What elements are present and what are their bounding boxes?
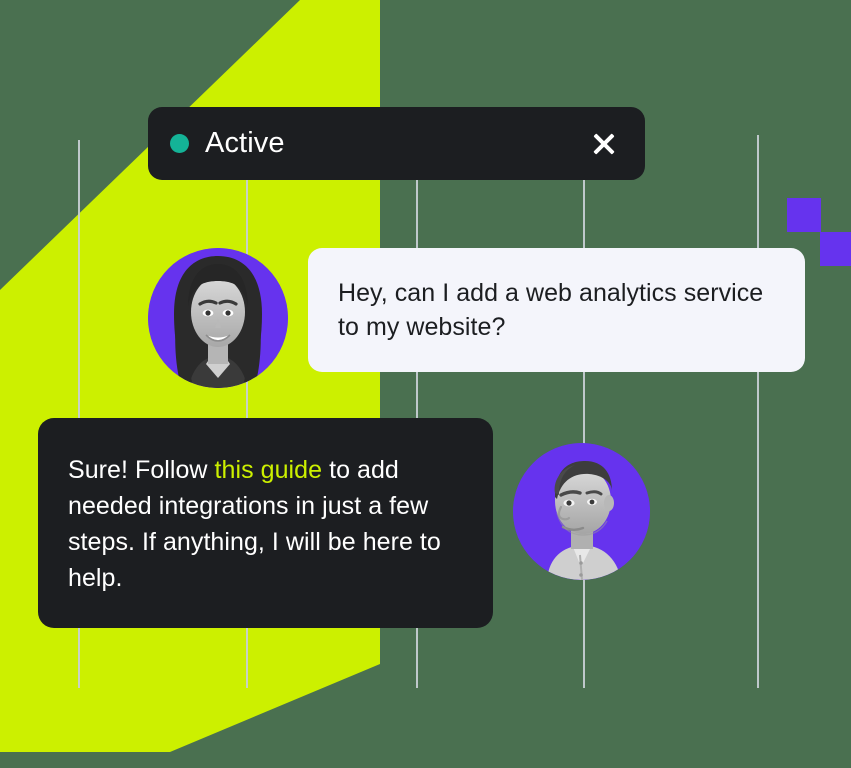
message-text-agent: Sure! Follow this guide to add needed in… [68, 452, 463, 596]
agent-text-before-link: Sure! Follow [68, 456, 215, 484]
status-header-bar: Active [148, 107, 645, 180]
purple-square-upper [787, 198, 821, 232]
status-dot-icon [170, 134, 189, 153]
avatar-agent-man [513, 443, 650, 580]
message-bubble-user: Hey, can I add a web analytics service t… [308, 248, 805, 372]
message-bubble-agent: Sure! Follow this guide to add needed in… [38, 418, 493, 628]
purple-square-lower [820, 232, 851, 266]
message-text-user: Hey, can I add a web analytics service t… [338, 276, 775, 345]
this-guide-link[interactable]: this guide [215, 456, 323, 484]
close-icon[interactable] [587, 127, 621, 161]
chat-widget-illustration: Active [0, 0, 851, 768]
avatar-user-woman [148, 248, 288, 388]
status-label: Active [205, 127, 587, 160]
guide-line-5 [757, 135, 759, 688]
